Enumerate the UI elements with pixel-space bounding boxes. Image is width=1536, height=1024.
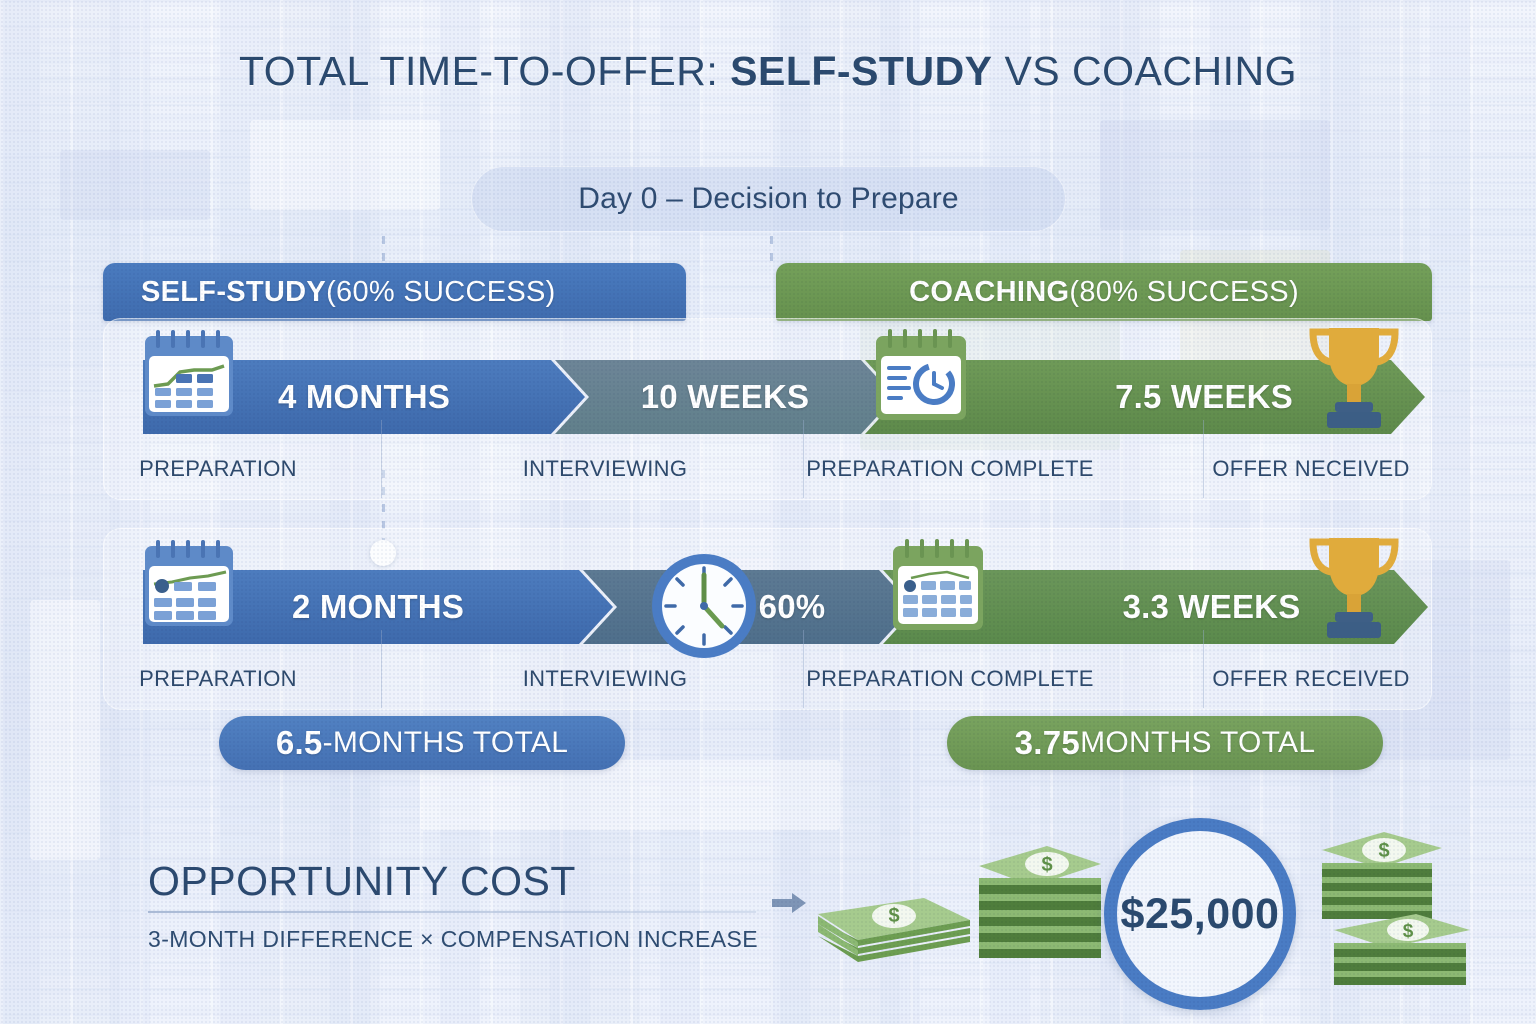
caption-divider [1203,630,1204,708]
caption-preparation: PREPARATION [139,456,297,482]
total-value: 6.5 [276,724,323,762]
timeline-band-row-2: 2 MONTHS 60% 3.3 WEEKS [143,570,1393,644]
caption-offer-received: OFFER NECEIVED [1212,456,1409,482]
infographic-canvas: TOTAL TIME-TO-OFFER: SELF-STUDY VS COACH… [0,0,1536,1024]
opportunity-cost-amount: $25,000 [1121,890,1280,939]
segment-value: 4 MONTHS [278,378,450,416]
total-pill-coaching: 3.75 MONTHS TOTAL [947,716,1383,770]
timeline-band-row-1: 4 MONTHS 10 WEEKS 7.5 WEEKS [143,360,1393,434]
page-title: TOTAL TIME-TO-OFFER: SELF-STUDY VS COACH… [0,48,1536,95]
bg-blotch [1100,120,1330,230]
caption-preparation-complete: PREPARATION COMPLETE [806,666,1094,692]
calendar-grid-icon [885,538,991,640]
total-label: MONTHS TOTAL [1080,726,1315,760]
segment-value: 2 MONTHS [292,588,464,626]
trophy-icon [1291,316,1417,436]
segment-value: 60% [759,588,826,626]
title-part-1: TOTAL TIME-TO-OFFER: [239,48,730,94]
bg-blotch [250,120,440,210]
caption-preparation-complete: PREPARATION COMPLETE [806,456,1094,482]
calendar-chart-icon [138,540,240,638]
column-header-coaching-bold: COACHING [909,276,1069,309]
opportunity-cost-rule [148,911,756,913]
caption-preparation: PREPARATION [139,666,297,692]
connector-dash [770,236,773,266]
total-label: -MONTHS TOTAL [323,726,569,760]
svg-text:$: $ [888,905,899,927]
caption-interviewing: INTERVIEWING [523,666,688,692]
segment-value: 3.3 WEEKS [1123,588,1301,626]
bg-blotch [30,600,100,860]
money-stack-icon: $ [975,838,1105,970]
svg-text:$: $ [1403,921,1414,942]
caption-divider [803,420,804,498]
money-stack-icon: $ [812,858,977,970]
opportunity-cost-title: OPPORTUNITY COST [148,858,576,905]
title-part-2: VS COACHING [993,48,1297,94]
start-pill-label: Day 0 – Decision to Prepare [578,182,959,216]
caption-divider [803,630,804,708]
arrow-right-icon [772,893,806,913]
column-header-self-study-rest: (60% SUCCESS) [326,276,556,309]
column-header-coaching: COACHING (80% SUCCESS) [776,263,1432,321]
svg-text:$: $ [1041,854,1052,876]
total-pill-self-study: 6.5-MONTHS TOTAL [219,716,625,770]
caption-interviewing: INTERVIEWING [523,456,688,482]
caption-divider [1203,420,1204,498]
calendar-chart-icon [138,330,240,428]
clock-icon [646,548,762,664]
column-header-self-study: SELF-STUDY (60% SUCCESS) [103,263,686,321]
column-header-self-study-bold: SELF-STUDY [141,276,326,309]
timeline-card-row-2: 2 MONTHS 60% 3.3 WEEKS [103,528,1432,710]
caption-offer-received: OFFER RECEIVED [1212,666,1409,692]
caption-divider [381,420,382,498]
svg-text:$: $ [1378,840,1389,862]
caption-divider [381,630,382,708]
segment-interviewing-row-1: 10 WEEKS [555,360,895,434]
money-stack-icon: $ [1330,908,1476,996]
start-pill: Day 0 – Decision to Prepare [471,166,1066,232]
total-value: 3.75 [1015,724,1080,762]
trophy-icon [1291,526,1417,646]
opportunity-cost-amount-circle: $25,000 [1104,818,1296,1010]
opportunity-cost-subtitle: 3-MONTH DIFFERENCE × COMPENSATION INCREA… [148,926,758,953]
bg-blotch [60,150,210,220]
title-emphasis: SELF-STUDY [730,48,992,94]
column-header-coaching-rest: (80% SUCCESS) [1069,276,1299,309]
timeline-card-row-1: 4 MONTHS 10 WEEKS 7.5 WEEKS [103,318,1432,500]
segment-value: 10 WEEKS [641,378,810,416]
segment-value: 7.5 WEEKS [1115,378,1293,416]
calendar-clock-icon [868,328,974,430]
bg-blotch [420,760,840,830]
